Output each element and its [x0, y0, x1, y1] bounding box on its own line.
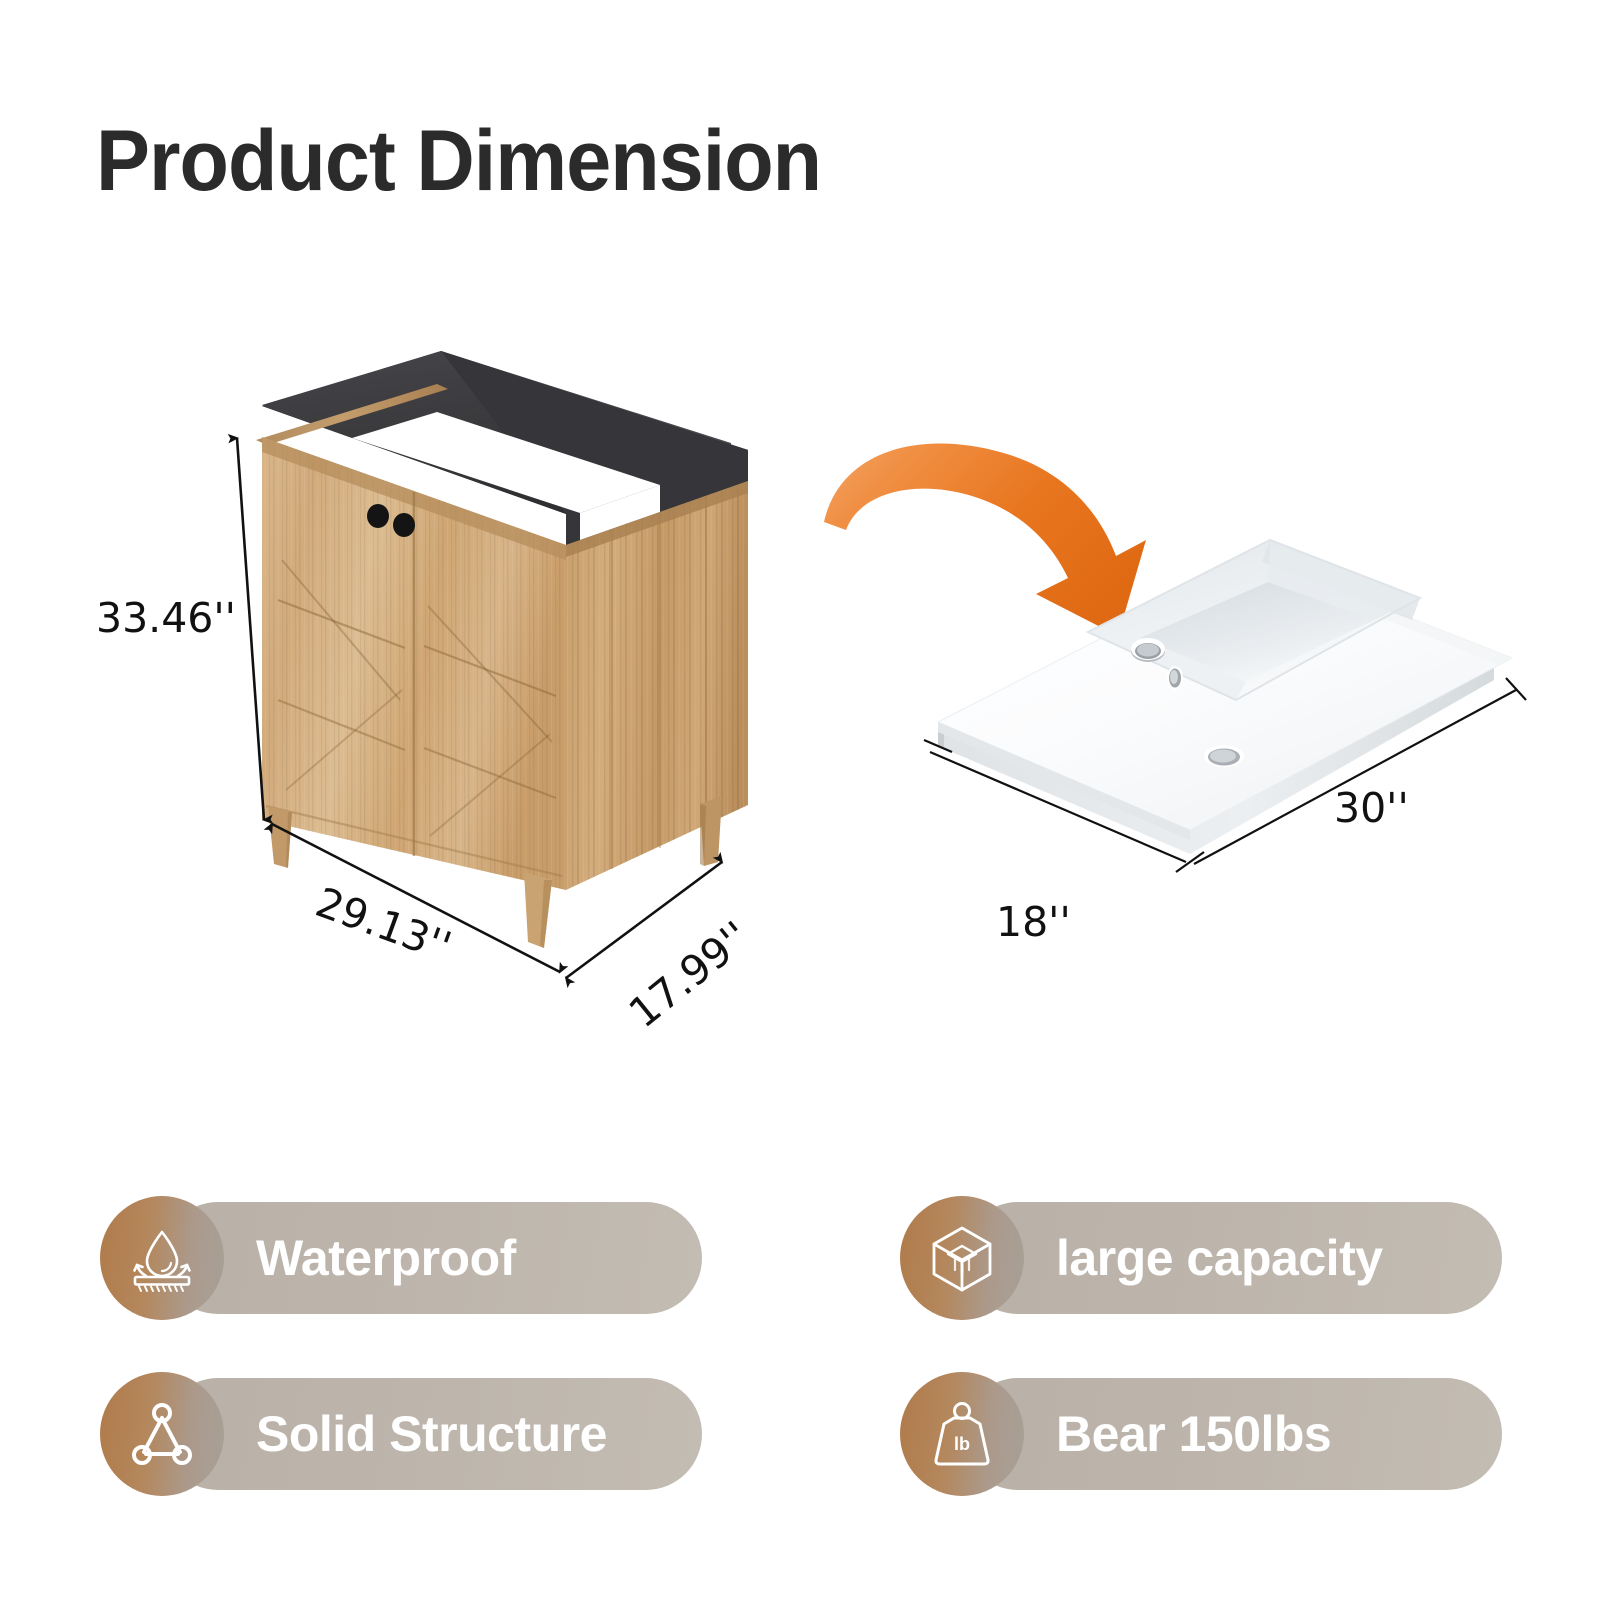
feature-badge-large-capacity[interactable]: large capacity	[900, 1196, 1383, 1320]
vanity-cabinet-illustration	[256, 351, 748, 948]
sink-faucet-hole	[1131, 638, 1165, 662]
feature-badge-solid-structure[interactable]: Solid Structure	[100, 1372, 607, 1496]
cabinet-knob-left	[367, 504, 389, 528]
dimension-arrow-height	[237, 438, 264, 820]
product-illustration-stage: 33.46'' 29.13'' 17.99'' 30'' 18''	[0, 0, 1600, 1120]
water-droplet-repel-icon	[100, 1196, 224, 1320]
sink-overflow	[1167, 666, 1183, 690]
weight-unit-text: lb	[954, 1434, 970, 1454]
feature-badge-waterproof[interactable]: Waterproof	[100, 1196, 516, 1320]
feature-label: Waterproof	[256, 1229, 516, 1287]
sink-tick-right	[1506, 678, 1526, 700]
product-illustration-svg	[0, 0, 1600, 1120]
weight-lb-icon: lb	[900, 1372, 1024, 1496]
vanity-top-sink-illustration	[938, 540, 1512, 854]
dimension-label-cabinet-height: 33.46''	[96, 594, 236, 642]
feature-badge-bear-weight[interactable]: lb Bear 150lbs	[900, 1372, 1331, 1496]
feature-label: Bear 150lbs	[1056, 1405, 1331, 1463]
dimension-label-sink-length: 30''	[1334, 784, 1409, 832]
feature-label: large capacity	[1056, 1229, 1383, 1287]
cabinet-knob-right	[393, 513, 415, 537]
feature-label: Solid Structure	[256, 1405, 607, 1463]
feature-badge-group: Waterproof Solid Structure	[0, 1180, 1600, 1550]
dimension-label-sink-depth: 18''	[996, 898, 1071, 946]
cabinet-right-side	[566, 481, 748, 890]
curved-assembly-arrow	[824, 444, 1146, 636]
triangle-nodes-structure-icon	[100, 1372, 224, 1496]
isometric-cube-icon	[900, 1196, 1024, 1320]
sink-drain	[1204, 745, 1244, 767]
